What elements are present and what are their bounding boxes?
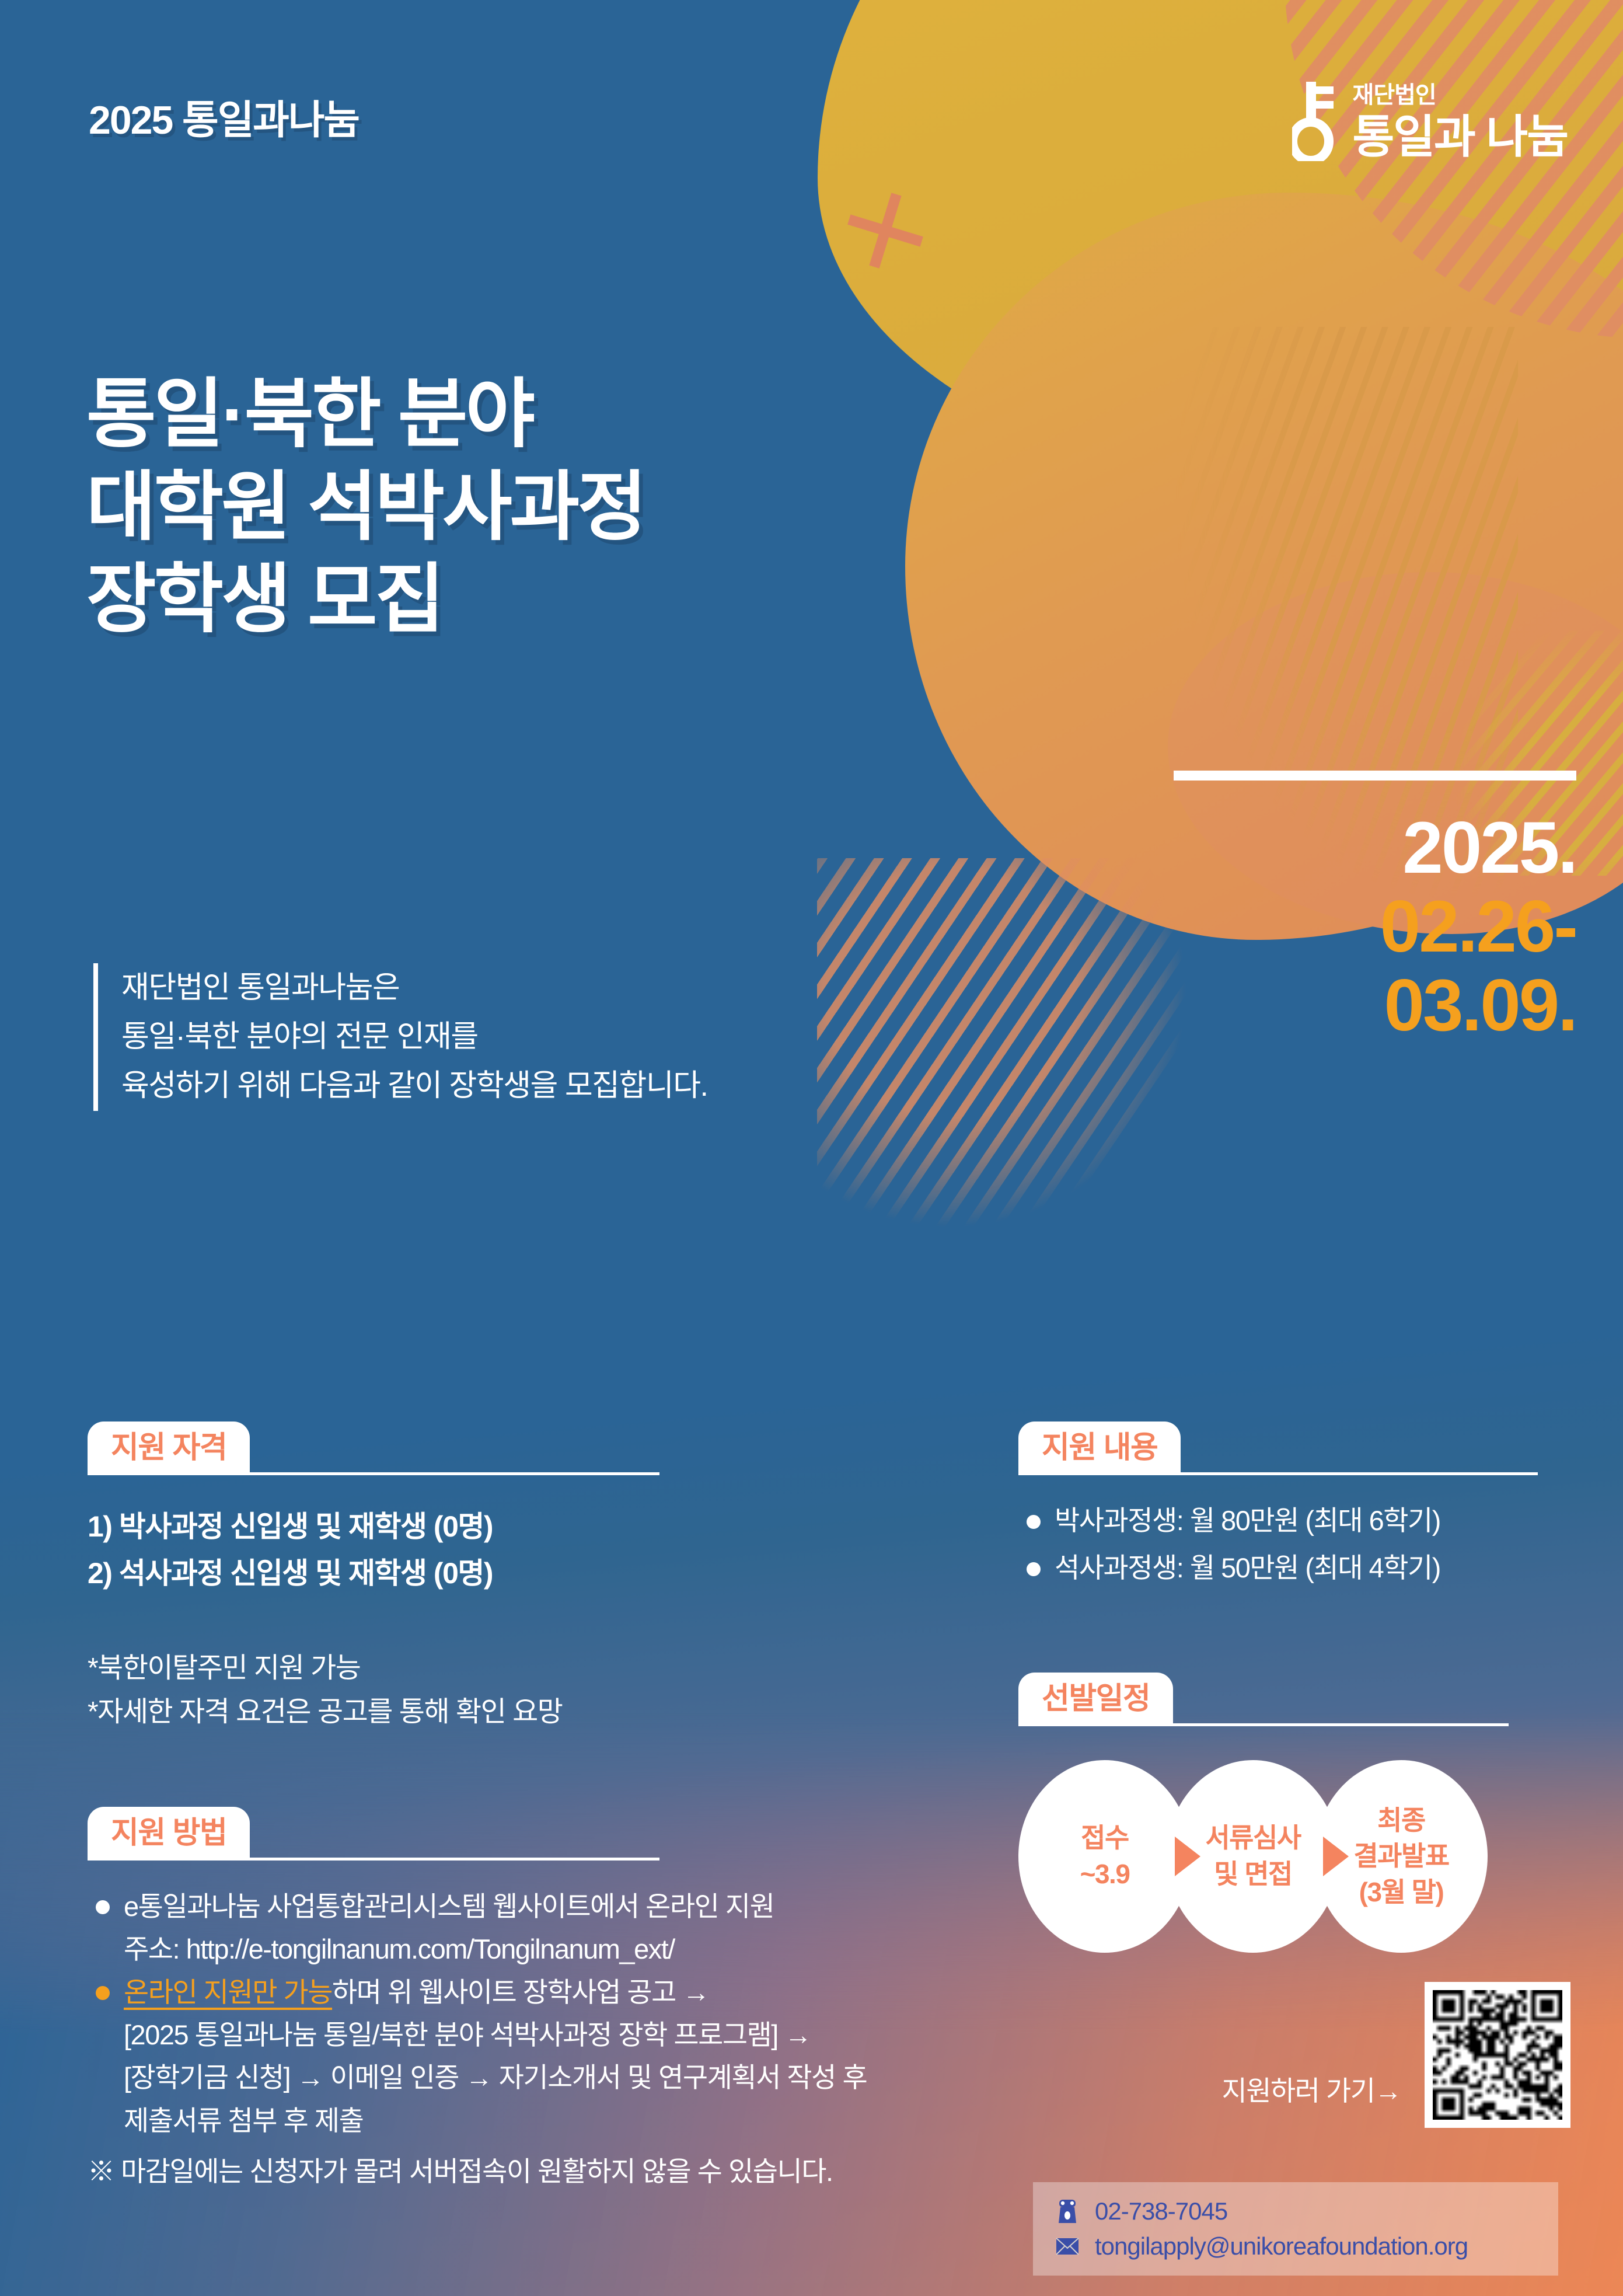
method-highlight: 온라인 지원만 가능 [124,1977,332,2008]
method-header: 지원 방법 [88,1807,934,1861]
method-list: e통일과나눔 사업통합관리시스템 웹사이트에서 온라인 지원 주소: http:… [88,1885,934,2142]
method-item-steps-line-3: [장학기금 신청] → 이메일 인증 → 자기소개서 및 연구계획서 작성 후 [124,2056,934,2099]
intro-line-3: 육성하기 위해 다음과 같이 장학생을 모집합니다. [121,1061,708,1110]
qualification-item: 2) 석사과정 신입생 및 재학생 (0명) [88,1550,747,1597]
qualification-note: *북한이탈주민 지원 가능 [88,1647,747,1691]
key-icon [1292,82,1338,161]
poster-root: 2025 통일과나눔 재단법인 통일과 나눔 통일·북한 분야 대학원 석박사과… [0,0,1623,2296]
section-schedule: 선발일정 접수 ~3.9 서류심사 및 면접 최종 결과발표 (3월 말) [1018,1673,1544,1953]
method-note: ※ 마감일에는 신청자가 몰려 서버접속이 원활하지 않을 수 있습니다. [88,2150,934,2193]
method-item-steps-line-1: 하며 위 웹사이트 장학사업 공고 → [332,1977,709,2008]
method-item-online: e통일과나눔 사업통합관리시스템 웹사이트에서 온라인 지원 주소: http:… [88,1885,934,1971]
method-heading: 지원 방법 [88,1807,250,1859]
qualification-list: 1) 박사과정 신입생 및 재학생 (0명) 2) 석사과정 신입생 및 재학생… [88,1503,747,1597]
date-range-start: 02.26- [1174,887,1576,966]
qr-label: 지원하러 가기→ [1222,2068,1402,2109]
method-item-steps-line-4: 제출서류 첨부 후 제출 [124,2099,934,2142]
logo-title: 통일과 나눔 [1353,114,1568,159]
qualification-notes: *북한이탈주민 지원 가능 *자세한 자격 요건은 공고를 통해 확인 요망 [88,1647,747,1734]
section-method: 지원 방법 e통일과나눔 사업통합관리시스템 웹사이트에서 온라인 지원 주소:… [88,1807,934,2193]
schedule-step-3-line-2: 결과발표 [1353,1838,1449,1875]
qualification-header: 지원 자격 [88,1422,747,1475]
method-website-url[interactable]: 주소: http://e-tongilnanum.com/Tongilnanum… [124,1928,934,1970]
schedule-step-1: 접수 ~3.9 [1018,1760,1191,1953]
logo-subtitle: 재단법인 [1353,83,1568,107]
schedule-step-1-line-2: ~3.9 [1080,1856,1130,1893]
arrow-right-icon [1175,1837,1200,1876]
method-item-steps-line-2: [2025 통일과나눔 통일/북한 분야 석박사과정 장학 프로그램] → [124,2013,934,2056]
support-item: 석사과정생: 월 50만원 (최대 4학기) [1018,1547,1544,1588]
contact-email-row: tongilapply@unikoreafoundation.org [1054,2232,1537,2260]
envelope-icon [1054,2233,1081,2260]
qr-code-image [1433,1990,1562,2120]
intro-paragraph: 재단법인 통일과나눔은 통일·북한 분야의 전문 인재를 육성하기 위해 다음과… [93,963,708,1111]
date-range-end: 03.09. [1174,966,1576,1045]
support-heading: 지원 내용 [1018,1422,1181,1473]
qr-section: 지원하러 가기→ [1425,1982,1570,2128]
contact-phone-row: 02-738-7045 [1054,2197,1537,2225]
section-support: 지원 내용 박사과정생: 월 80만원 (최대 6학기) 석사과정생: 월 50… [1018,1422,1544,1595]
intro-line-2: 통일·북한 분야의 전문 인재를 [121,1012,708,1061]
support-header: 지원 내용 [1018,1422,1544,1475]
schedule-step-2-line-1: 서류심사 [1205,1820,1300,1856]
method-item-online-line-1: e통일과나눔 사업통합관리시스템 웹사이트에서 온라인 지원 [124,1885,934,1928]
page-kicker: 2025 통일과나눔 [89,88,359,145]
title-line-3: 장학생 모집 [86,553,645,646]
qualification-item: 1) 박사과정 신입생 및 재학생 (0명) [88,1503,747,1550]
recruitment-period: 2025. 02.26- 03.09. [1174,771,1576,1045]
schedule-step-1-line-1: 접수 [1081,1820,1129,1856]
schedule-step-2-line-2: 및 면접 [1214,1856,1292,1893]
intro-line-1: 재단법인 통일과나눔은 [121,963,708,1012]
schedule-step-3-line-3: (3월 말) [1359,1875,1444,1911]
qualification-heading: 지원 자격 [88,1422,250,1473]
phone-icon [1054,2198,1081,2225]
foundation-logo: 재단법인 통일과 나눔 [1292,82,1568,161]
qr-code[interactable] [1425,1982,1570,2128]
contact-box: 02-738-7045 tongilapply@unikoreafoundati… [1033,2182,1558,2276]
qualification-note: *자세한 자격 요건은 공고를 통해 확인 요망 [88,1691,747,1734]
title-line-1: 통일·북한 분야 [86,368,645,461]
page-title: 통일·북한 분야 대학원 석박사과정 장학생 모집 [86,368,645,646]
date-year: 2025. [1174,809,1576,887]
schedule-step-3-line-1: 최종 [1377,1803,1425,1839]
support-item: 박사과정생: 월 80만원 (최대 6학기) [1018,1500,1544,1541]
schedule-header: 선발일정 [1018,1673,1544,1726]
method-item-steps: 온라인 지원만 가능하며 위 웹사이트 장학사업 공고 → [2025 통일과나… [88,1971,934,2142]
contact-phone[interactable]: 02-738-7045 [1095,2197,1227,2225]
date-divider [1174,771,1576,781]
contact-email[interactable]: tongilapply@unikoreafoundation.org [1095,2232,1468,2260]
support-list: 박사과정생: 월 80만원 (최대 6학기) 석사과정생: 월 50만원 (최대… [1018,1500,1544,1589]
title-line-2: 대학원 석박사과정 [86,461,645,553]
schedule-heading: 선발일정 [1018,1673,1173,1724]
section-qualification: 지원 자격 1) 박사과정 신입생 및 재학생 (0명) 2) 석사과정 신입생… [88,1422,747,1734]
arrow-right-icon [1323,1837,1349,1876]
schedule-flow: 접수 ~3.9 서류심사 및 면접 최종 결과발표 (3월 말) [1018,1760,1544,1953]
